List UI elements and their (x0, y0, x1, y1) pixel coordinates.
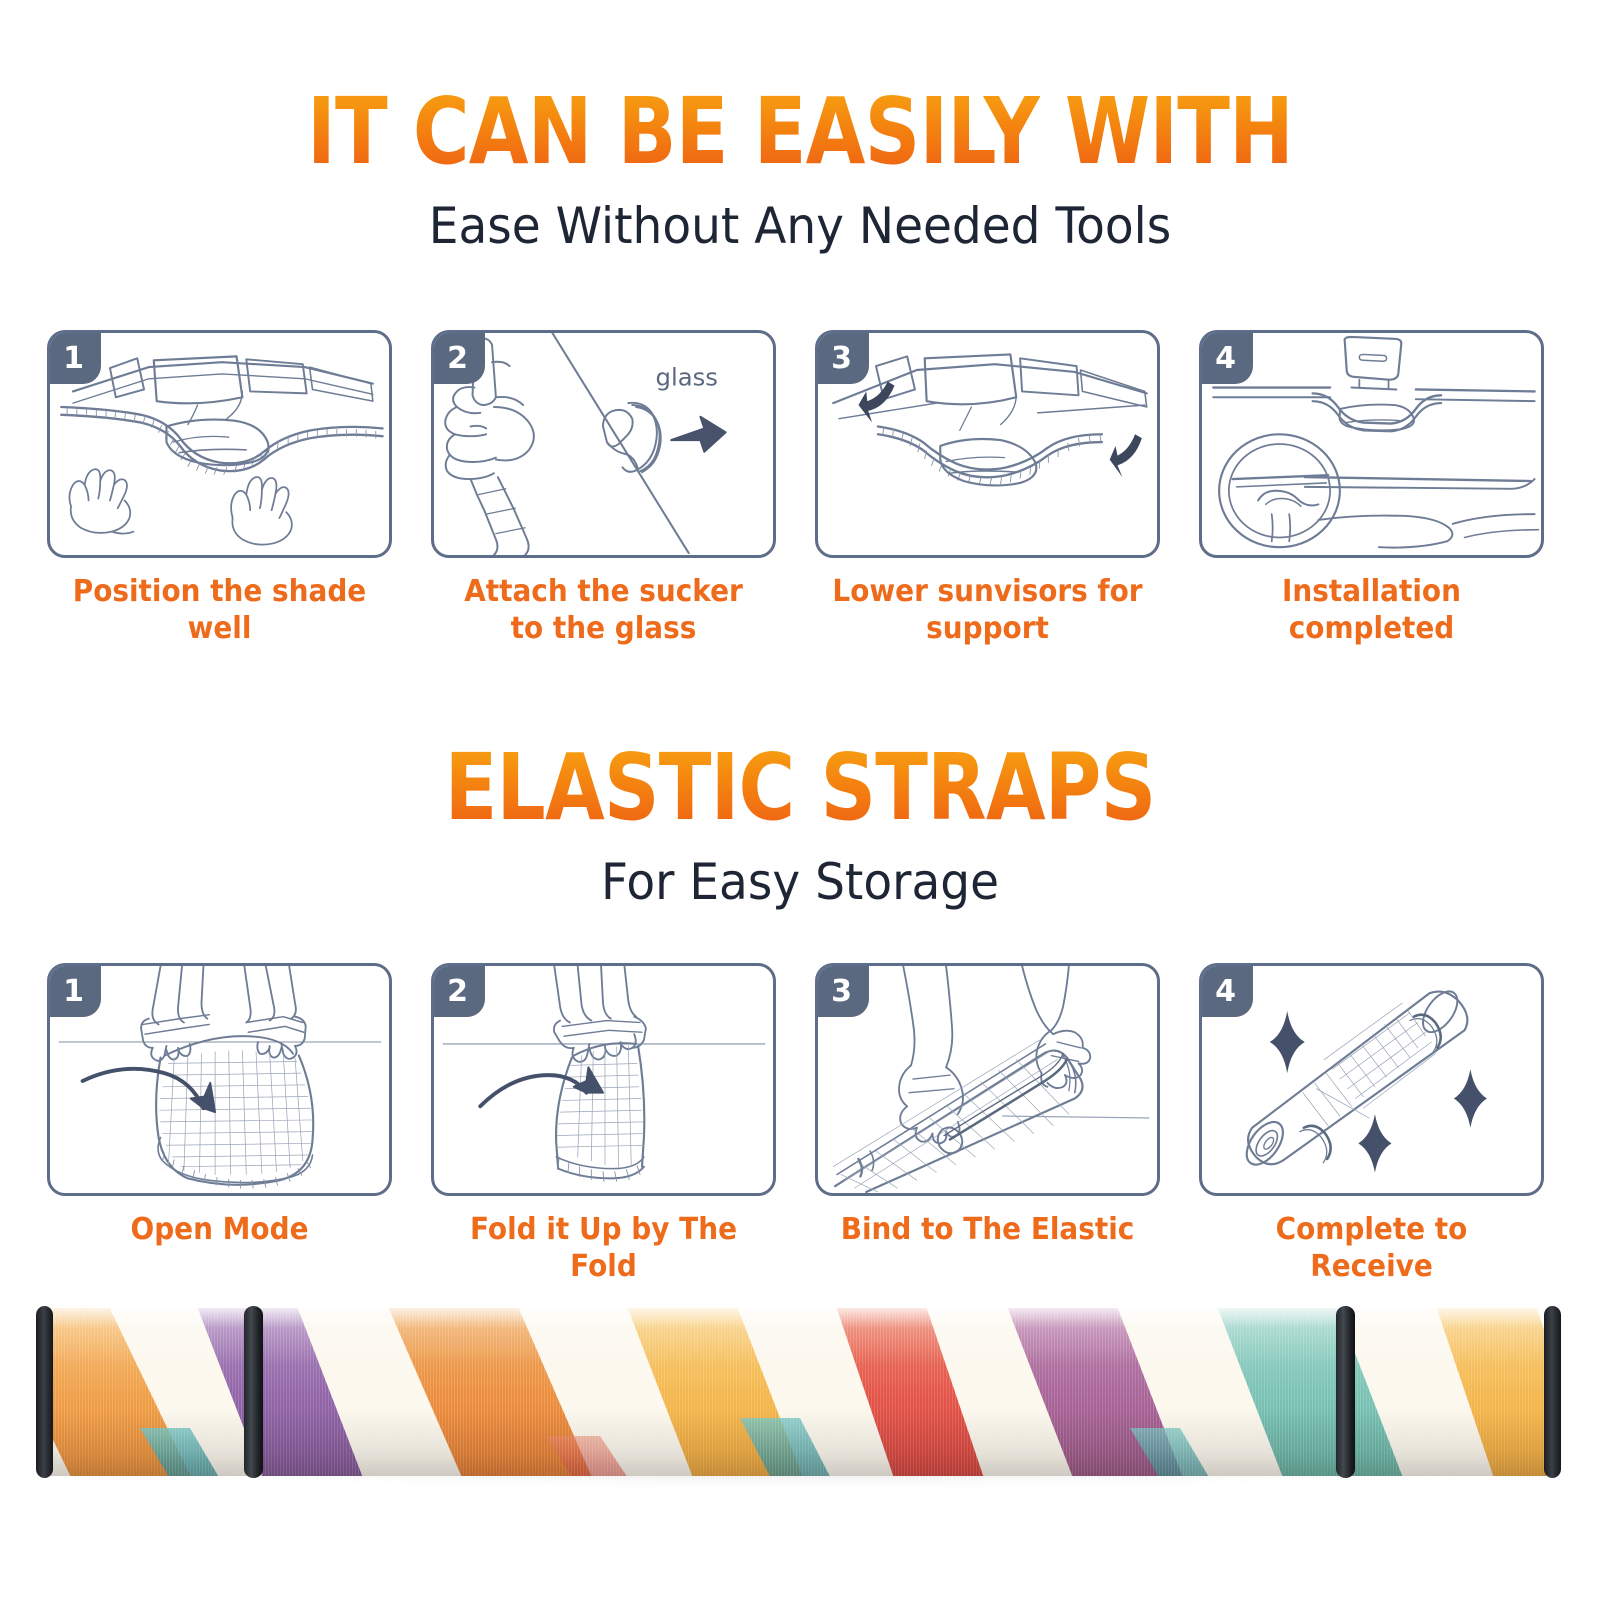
storage-card-3[interactable]: 3 (815, 963, 1160, 1285)
step-number-badge: 1 (49, 965, 101, 1017)
step-card-1[interactable]: 1 (47, 330, 392, 647)
section-2-subtitle: For Easy Storage (48, 856, 1552, 909)
storage-4-caption: Complete to Receive (1211, 1212, 1532, 1285)
step-number-badge: 1 (49, 332, 101, 384)
step-1-illustration-card: 1 (47, 330, 392, 558)
storage-2-caption: Fold it Up by The Fold (443, 1212, 764, 1285)
step-card-2[interactable]: 2 (431, 330, 776, 647)
roll-body (40, 1308, 1558, 1476)
section-1-heading: IT CAN BE EASILY WITH Ease Without Any N… (0, 86, 1600, 253)
step-4-illustration-card: 4 (1199, 330, 1544, 558)
step-number-badge: 3 (817, 965, 869, 1017)
storage-steps-row: 1 (47, 963, 1553, 1285)
step-3-illustration-card: 3 (815, 330, 1160, 558)
step-number-badge: 2 (433, 332, 485, 384)
step-2-caption: Attach the sucker to the glass (443, 574, 764, 647)
step-2-illustration-card: 2 (431, 330, 776, 558)
step-number-badge: 3 (817, 332, 869, 384)
glass-label: glass (656, 363, 718, 392)
step-1-caption: Position the shade well (59, 574, 380, 647)
elastic-strap-right (1336, 1306, 1355, 1478)
storage-2-illustration-card: 2 (431, 963, 776, 1196)
storage-1-caption: Open Mode (59, 1212, 380, 1249)
storage-3-caption: Bind to The Elastic (827, 1212, 1148, 1249)
storage-4-illustration-card: 4 (1199, 963, 1544, 1196)
step-card-3[interactable]: 3 (815, 330, 1160, 647)
roll-cylinder-shading (40, 1308, 1558, 1476)
section-1-title: IT CAN BE EASILY WITH (128, 86, 1472, 178)
rolled-sunshade-photo (40, 1308, 1558, 1476)
step-card-4[interactable]: 4 (1199, 330, 1544, 647)
storage-3-illustration-card: 3 (815, 963, 1160, 1196)
elastic-strap-left (244, 1306, 263, 1478)
section-1-subtitle: Ease Without Any Needed Tools (48, 200, 1552, 253)
section-2-heading: ELASTIC STRAPS For Easy Storage (0, 742, 1600, 909)
step-number-badge: 4 (1201, 332, 1253, 384)
section-2-title: ELASTIC STRAPS (128, 742, 1472, 834)
step-number-badge: 2 (433, 965, 485, 1017)
step-3-caption: Lower sunvisors for support (827, 574, 1148, 647)
step-4-caption: Installation completed (1211, 574, 1532, 647)
storage-card-2[interactable]: 2 (431, 963, 776, 1285)
step-number-badge: 4 (1201, 965, 1253, 1017)
install-steps-row: 1 (47, 330, 1553, 647)
storage-card-1[interactable]: 1 (47, 963, 392, 1285)
roll-left-end (36, 1306, 53, 1478)
roll-right-end (1544, 1306, 1561, 1478)
storage-card-4[interactable]: 4 (1199, 963, 1544, 1285)
storage-1-illustration-card: 1 (47, 963, 392, 1196)
